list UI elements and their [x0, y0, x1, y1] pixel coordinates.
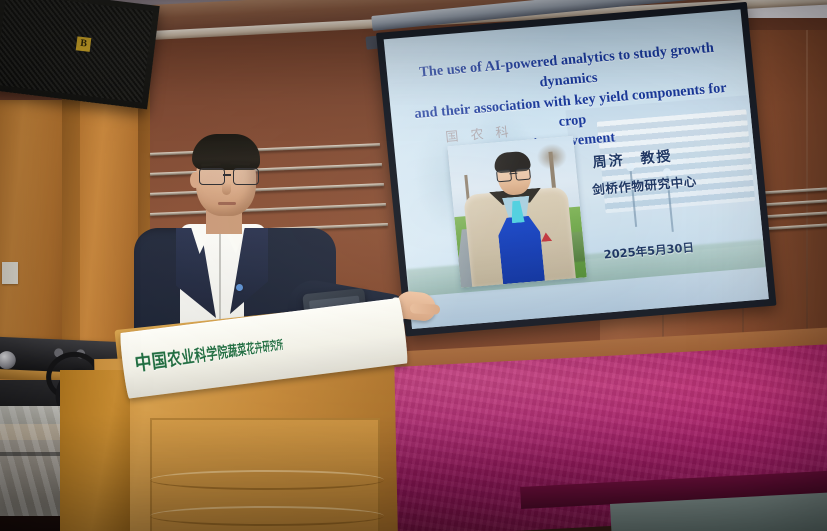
podium-left-face [60, 370, 130, 531]
portrait-tweed-jacket [463, 187, 576, 287]
speaker-portrait-photo [447, 136, 586, 288]
projection-screen: 国 农 科 院 The use of AI-powered analytics … [376, 2, 776, 337]
slide-surface: 国 农 科 院 The use of AI-powered analytics … [384, 9, 769, 329]
loudspeaker-cabinet: B [0, 0, 160, 109]
portrait-eyeglasses-icon [496, 168, 531, 181]
presentation-photo: B 国 农 科 院 The use of AI-powered analytic… [0, 0, 827, 531]
podium-arc-detail [150, 506, 384, 526]
podium-arc-detail [150, 470, 384, 490]
speaker-grille [0, 0, 153, 103]
presenter-fingers [410, 303, 440, 315]
presenter-lapel-badge [236, 284, 243, 291]
portrait-blue-sweater [497, 215, 545, 284]
presenter-eyeglasses-icon [199, 168, 257, 183]
presenter-nose [222, 183, 231, 195]
presenter-mouth [218, 202, 236, 205]
wall-socket-plate [2, 262, 18, 284]
portrait-pocket-square [540, 232, 552, 242]
speaker-brand-logo: B [76, 36, 92, 52]
amplifier-dial [0, 351, 16, 370]
